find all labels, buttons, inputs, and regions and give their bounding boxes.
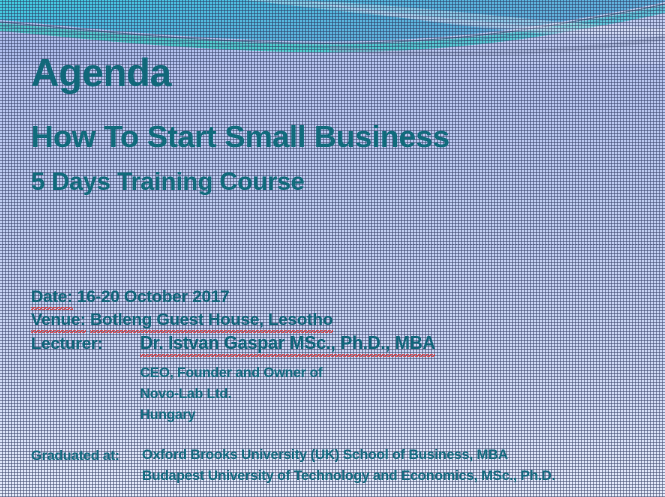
education-entry: Budapest University of Technology and Ec… (142, 466, 555, 484)
venue-label: Venue: (31, 309, 86, 331)
venue-value: Botleng Guest House, Lesotho (90, 309, 333, 331)
course-title: How To Start Small Business (31, 119, 450, 155)
slide-content: Agenda How To Start Small Business 5 Day… (0, 0, 665, 497)
venue-line: Venue: Botleng Guest House, Lesotho (31, 309, 333, 331)
graduated-label: Graduated at: (31, 446, 119, 464)
lecturer-role: CEO, Founder and Owner of (140, 363, 322, 381)
date-value: 16-20 October 2017 (77, 287, 229, 306)
lecturer-company: Novo-Lab Ltd. (140, 384, 232, 402)
lecturer-label: Lecturer: (31, 333, 103, 355)
slide-heading: Agenda (31, 52, 171, 96)
education-entry: Oxford Brooks University (UK) School of … (142, 445, 508, 463)
presentation-slide: Agenda How To Start Small Business 5 Day… (0, 0, 665, 497)
course-subtitle: 5 Days Training Course (31, 167, 304, 197)
lecturer-name-text: Dr. Istvan Gaspar MSc., Ph.D., MBA (140, 332, 435, 355)
date-label: Date: (31, 286, 73, 308)
lecturer-name: Dr. Istvan Gaspar MSc., Ph.D., MBA (140, 332, 435, 355)
lecturer-country: Hungary (140, 405, 195, 423)
date-line: Date: 16-20 October 2017 (31, 286, 229, 308)
